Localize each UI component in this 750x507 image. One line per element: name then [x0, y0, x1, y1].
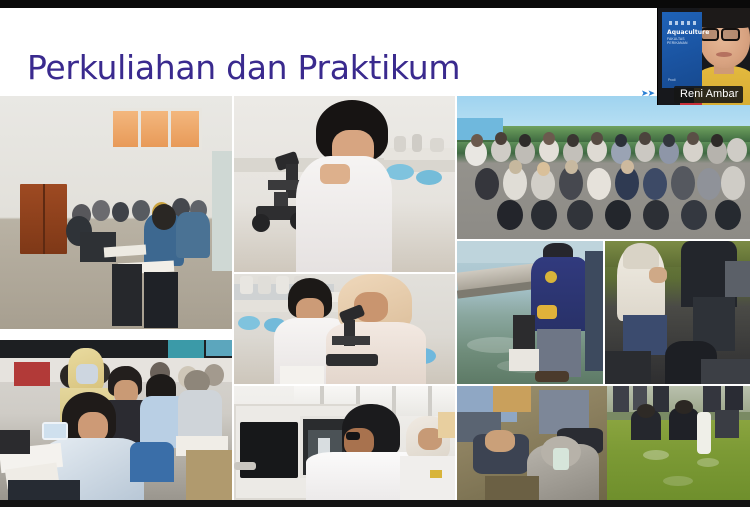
collage-photo-microscope-student — [234, 96, 455, 272]
banner-dots-decoration — [669, 21, 697, 25]
screen-share-indicator-icon: ➤➤ — [641, 88, 654, 99]
banner-footer: Prodi — [668, 78, 675, 82]
participant-video-tile[interactable]: Aquaculture FAKULTAS PERIKANAN Prodi Ren… — [657, 8, 750, 105]
collage-photo-boat-water-sampling — [457, 241, 603, 384]
collage-photo-classroom-lecture — [0, 96, 232, 329]
collage-photo-field-sampling — [605, 241, 750, 384]
participant-name-badge: Reni Ambar — [674, 86, 743, 103]
collage-photo-group-field — [457, 96, 750, 239]
slide-title: Perkuliahan dan Praktikum — [27, 48, 460, 87]
bottom-letterbox — [0, 500, 750, 507]
photo-collage — [0, 96, 750, 500]
participant-mouth — [716, 52, 732, 57]
aquaculture-banner: Aquaculture FAKULTAS PERIKANAN Prodi — [662, 12, 702, 88]
presentation-slide: Perkuliahan dan Praktikum — [0, 8, 750, 500]
participant-hair — [696, 8, 750, 28]
collage-photo-lab-microscope-pair — [234, 274, 455, 384]
screen-share-frame: Perkuliahan dan Praktikum — [0, 0, 750, 507]
collage-photo-lab-incubator — [234, 386, 455, 500]
eyeglasses-right-lens — [721, 28, 740, 41]
collage-photo-pond-sampling — [457, 386, 750, 500]
banner-title: Aquaculture — [667, 29, 703, 36]
banner-subtitle: FAKULTAS PERIKANAN — [667, 37, 701, 45]
name-badge-accent — [680, 103, 702, 105]
top-letterbox — [0, 0, 750, 8]
collage-photo-classroom-discussion — [0, 340, 232, 500]
